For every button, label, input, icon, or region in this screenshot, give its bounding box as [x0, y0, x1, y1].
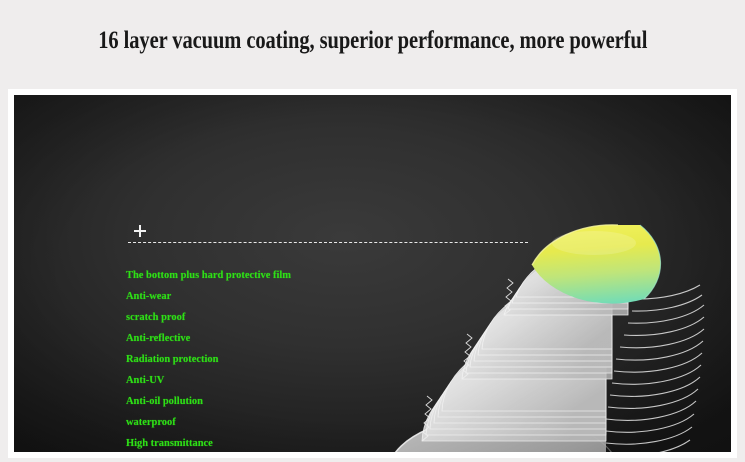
list-item: Radiation protection [126, 349, 291, 370]
list-item: High transmittance [126, 433, 291, 452]
top-dashed-guide-line [128, 242, 528, 243]
list-item: Anti-reflective [126, 328, 291, 349]
lens-layer-stack-illustration [344, 203, 714, 452]
page-title: 16 layer vacuum coating, superior perfor… [98, 26, 647, 56]
list-item: waterproof [126, 412, 291, 433]
illustration-frame: The bottom plus hard protective film Ant… [8, 89, 737, 458]
list-item: Anti-oil pollution [126, 391, 291, 412]
list-item: The bottom plus hard protective film [126, 265, 291, 286]
plus-icon [132, 223, 148, 239]
feature-list: The bottom plus hard protective film Ant… [126, 265, 300, 452]
illustration-panel: The bottom plus hard protective film Ant… [14, 95, 731, 452]
list-item: Anti-UV [126, 370, 291, 391]
list-item: scratch proof [126, 307, 291, 328]
title-bar: 16 layer vacuum coating, superior perfor… [0, 0, 745, 82]
top-lens-highlight [552, 231, 636, 255]
list-item: Anti-wear [126, 286, 291, 307]
product-feature-banner: 16 layer vacuum coating, superior perfor… [0, 0, 745, 462]
lens-stack-svg [344, 203, 714, 452]
